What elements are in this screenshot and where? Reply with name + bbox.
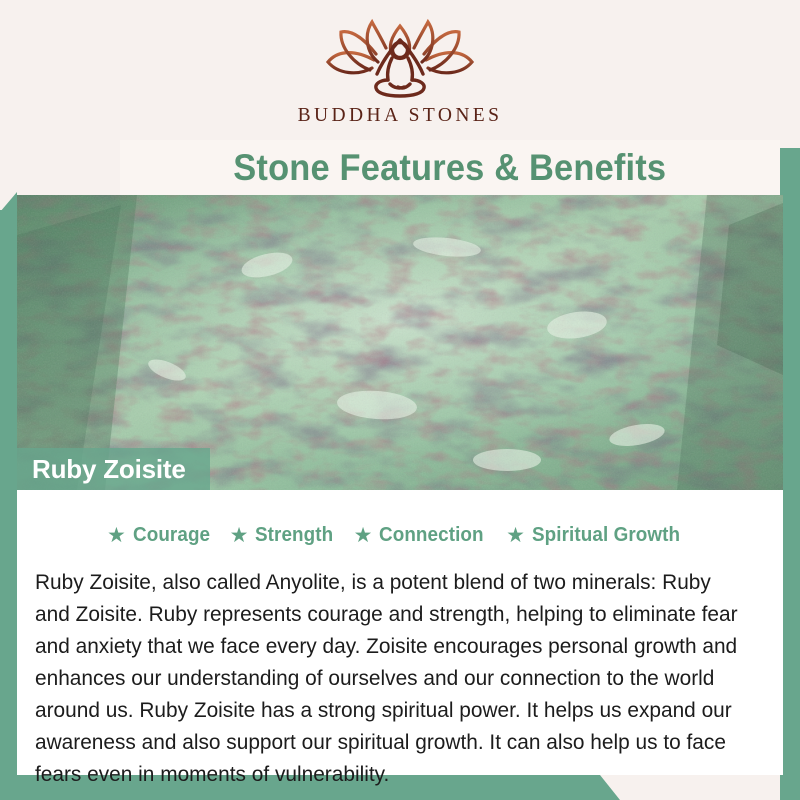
brand-header: BUDDHA STONES: [0, 0, 800, 148]
star-icon: ★: [506, 525, 525, 546]
frame-accent-left-diagonal: [0, 192, 17, 212]
feature-label: Connection: [379, 523, 484, 547]
feature-item-strength: ★ Strength: [230, 523, 341, 547]
feature-item-courage: ★ Courage: [107, 523, 217, 547]
feature-list: ★ Courage ★ Strength ★ Connection ★ Spir…: [17, 523, 783, 547]
feature-item-spiritual-growth: ★ Spiritual Growth: [506, 523, 693, 547]
stone-name-label: Ruby Zoisite: [32, 454, 186, 485]
stone-photo-texture: [17, 195, 783, 490]
page-title: Stone Features & Benefits: [234, 147, 667, 189]
brand-name: BUDDHA STONES: [298, 105, 503, 127]
feature-label: Courage: [133, 523, 210, 547]
star-icon: ★: [107, 525, 126, 546]
feature-label: Spiritual Growth: [532, 523, 680, 547]
feature-item-connection: ★ Connection: [354, 523, 494, 547]
title-banner: Stone Features & Benefits: [120, 140, 780, 196]
stone-description: Ruby Zoisite, also called Anyolite, is a…: [35, 566, 743, 790]
stone-name-bar: Ruby Zoisite: [17, 448, 210, 490]
brand-logo-group: BUDDHA STONES: [0, 18, 800, 127]
infographic-page: BUDDHA STONES Stone Features & Benefits: [0, 0, 800, 800]
lotus-meditation-icon: [314, 18, 486, 100]
stone-photo: [17, 195, 783, 490]
content-panel: ★ Courage ★ Strength ★ Connection ★ Spir…: [17, 490, 783, 775]
star-icon: ★: [354, 525, 373, 546]
star-icon: ★: [230, 525, 249, 546]
frame-accent-left: [0, 210, 17, 800]
feature-label: Strength: [255, 523, 333, 547]
